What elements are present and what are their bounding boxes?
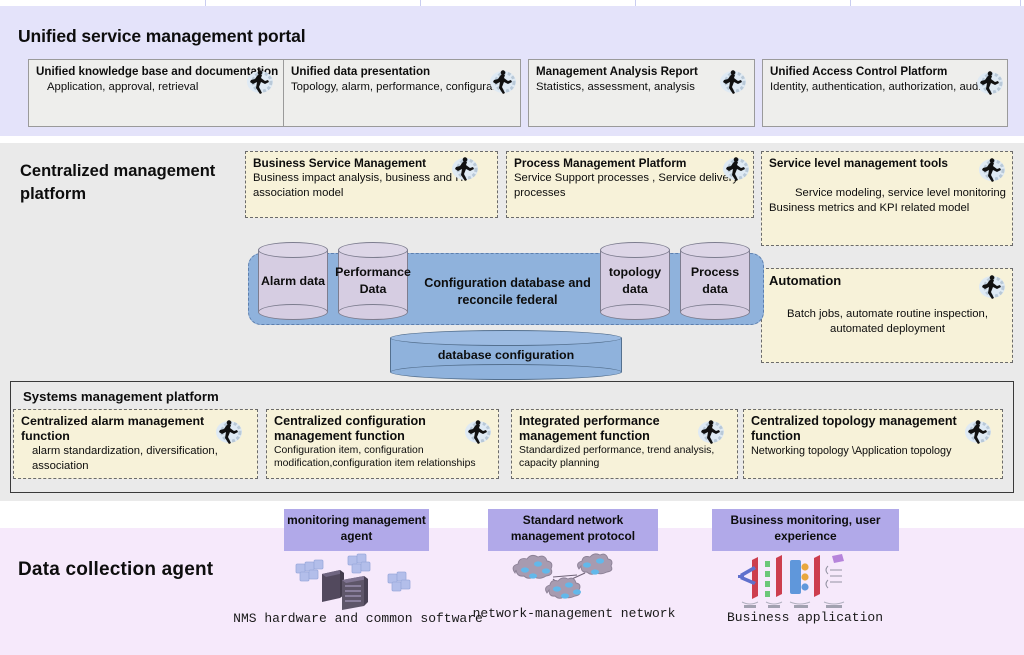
agent-label-standard-network-management-protocol[interactable]: Standard network management protocol xyxy=(488,509,658,551)
systems-card-topology-management[interactable]: Centralized topology management function… xyxy=(743,409,1003,479)
card-heading: Centralized configuration management fun… xyxy=(274,414,492,444)
card-body: Service modeling, service level monitori… xyxy=(769,186,1006,201)
card-body: Business impact analysis, business and I… xyxy=(253,171,491,201)
portal-title: Unified service management portal xyxy=(18,26,305,47)
business-chart-icon xyxy=(728,552,858,612)
card-heading: Business Service Management xyxy=(253,156,491,171)
data-store-database-configuration[interactable]: database configuration xyxy=(390,330,622,380)
data-store-topology-data[interactable]: topology data xyxy=(600,242,670,320)
data-store-label: Alarm data xyxy=(258,242,328,320)
card-body: Topology, alarm, performance, configurat… xyxy=(291,80,514,95)
centralized-platform-title: Centralized management platform xyxy=(20,160,235,206)
unified-service-management-portal-band: Unified service management portal Unifie… xyxy=(0,6,1024,136)
central-card-process-management-platform[interactable]: Process Management Platform Service Supp… xyxy=(506,151,754,218)
agent-caption-nms-hardware: NMS hardware and common software xyxy=(218,609,498,629)
card-heading: Automation xyxy=(769,273,1006,288)
systems-card-alarm-management[interactable]: Centralized alarm management function al… xyxy=(13,409,258,479)
portal-card-knowledge-base[interactable]: Unified knowledge base and documentation… xyxy=(28,59,286,127)
card-heading: Service level management tools xyxy=(769,156,1006,171)
card-body: Standardized performance, trend analysis… xyxy=(519,444,731,470)
agent-label-text: Standard network management protocol xyxy=(511,513,635,543)
systems-management-platform-panel: Systems management platform Centralized … xyxy=(10,381,1014,493)
portal-card-data-presentation[interactable]: Unified data presentation Topology, alar… xyxy=(283,59,521,127)
card-body: Service Support processes , Service deli… xyxy=(514,171,747,201)
server-racks-icon xyxy=(288,552,428,610)
card-heading: Centralized alarm management function xyxy=(21,414,251,444)
data-store-performance-data[interactable]: Performance Data xyxy=(338,242,408,320)
data-store-process-data[interactable]: Process data xyxy=(680,242,750,320)
card-body: Batch jobs, automate routine inspection,… xyxy=(769,307,1006,337)
central-card-business-service-management[interactable]: Business Service Management Business imp… xyxy=(245,151,498,218)
systems-platform-title: Systems management platform xyxy=(23,389,219,404)
card-heading: Unified data presentation xyxy=(291,65,514,80)
central-card-automation[interactable]: Automation Batch jobs, automate routine … xyxy=(761,268,1013,363)
card-body: Statistics, assessment, analysis xyxy=(536,80,748,95)
agent-caption-network-management-network: network-management network xyxy=(466,604,682,624)
card-body-secondary: Business metrics and KPI related model xyxy=(769,201,1006,216)
data-store-label: topology data xyxy=(600,242,670,320)
card-body: Networking topology \Application topolog… xyxy=(751,444,996,458)
agent-label-text: Business monitoring, user experience xyxy=(731,513,881,543)
card-heading: Centralized topology management function xyxy=(751,414,996,444)
card-heading: Unified Access Control Platform xyxy=(770,65,1001,80)
card-body: Application, approval, retrieval xyxy=(36,80,279,95)
agent-label-monitoring-management-agent[interactable]: monitoring management agent xyxy=(284,509,429,551)
card-body: Identity, authentication, authorization,… xyxy=(770,80,1001,95)
systems-card-configuration-management[interactable]: Centralized configuration management fun… xyxy=(266,409,499,479)
card-heading: Management Analysis Report xyxy=(536,65,748,80)
card-heading: Process Management Platform xyxy=(514,156,747,171)
data-collection-agent-title: Data collection agent xyxy=(18,559,213,581)
agent-label-text: monitoring management agent xyxy=(287,513,426,543)
data-store-label: Performance Data xyxy=(338,242,408,320)
portal-card-management-analysis-report[interactable]: Management Analysis Report Statistics, a… xyxy=(528,59,755,127)
agent-caption-business-application: Business application xyxy=(718,608,892,628)
federation-label: Configuration database and reconcile fed… xyxy=(400,275,615,309)
central-card-service-level-management-tools[interactable]: Service level management tools Service m… xyxy=(761,151,1013,246)
systems-card-performance-management[interactable]: Integrated performance management functi… xyxy=(511,409,738,479)
data-store-label: database configuration xyxy=(390,330,622,380)
card-heading: Unified knowledge base and documentation xyxy=(36,65,279,80)
card-heading: Integrated performance management functi… xyxy=(519,414,731,444)
card-body: Configuration item, configuration modifi… xyxy=(274,444,492,470)
data-store-label: Process data xyxy=(680,242,750,320)
portal-card-access-control[interactable]: Unified Access Control Platform Identity… xyxy=(762,59,1008,127)
card-body: alarm standardization, diversification, … xyxy=(21,444,251,474)
data-store-alarm-data[interactable]: Alarm data xyxy=(258,242,328,320)
network-clouds-icon xyxy=(505,551,640,607)
agent-label-business-monitoring-user-experience[interactable]: Business monitoring, user experience xyxy=(712,509,899,551)
